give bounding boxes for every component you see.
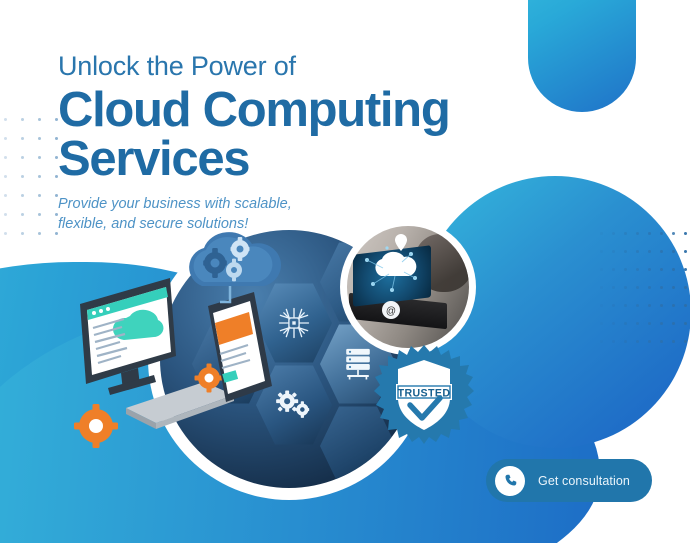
grid-dot — [648, 268, 651, 271]
grid-dot — [612, 286, 615, 289]
grid-dot — [660, 322, 663, 325]
grid-dot — [600, 232, 603, 235]
grid-dot — [600, 340, 603, 343]
grid-dot — [38, 194, 41, 197]
grid-dot — [672, 250, 675, 253]
cloud-computing-banner: Unlock the Power of Cloud Computing Serv… — [0, 0, 690, 543]
grid-dot — [624, 340, 627, 343]
grid-dot — [600, 268, 603, 271]
grid-dot — [672, 286, 675, 289]
phone-icon — [495, 466, 525, 496]
title-line-1: Cloud Computing — [58, 83, 449, 137]
grid-dot — [672, 268, 675, 271]
grid-dot — [660, 268, 663, 271]
grid-dot — [4, 194, 7, 197]
grid-dot — [4, 175, 7, 178]
grid-dot — [636, 286, 639, 289]
grid-dot — [648, 286, 651, 289]
grid-dot — [648, 304, 651, 307]
grid-dot — [21, 213, 24, 216]
grid-dot — [636, 232, 639, 235]
grid-dot — [636, 250, 639, 253]
svg-text:@: @ — [386, 306, 396, 317]
grid-dot — [612, 232, 615, 235]
get-consultation-button[interactable]: Get consultation — [486, 459, 652, 502]
grid-dot — [600, 250, 603, 253]
grid-dot — [38, 232, 41, 235]
grid-dot — [21, 118, 24, 121]
grid-dot — [648, 232, 651, 235]
grid-dot — [21, 137, 24, 140]
subtitle-text: Provide your business with scalable, fle… — [58, 195, 316, 234]
dot-grid-right — [600, 232, 690, 362]
grid-dot — [672, 304, 675, 307]
grid-dot — [660, 304, 663, 307]
grid-dot — [612, 304, 615, 307]
keyboard — [126, 382, 234, 429]
grid-dot — [636, 322, 639, 325]
grid-dot — [636, 268, 639, 271]
grid-dot — [624, 268, 627, 271]
grid-dot — [684, 286, 687, 289]
grid-dot — [600, 286, 603, 289]
grid-dot — [38, 137, 41, 140]
grid-dot — [684, 322, 687, 325]
grid-dot — [648, 340, 651, 343]
grid-dot — [624, 322, 627, 325]
server-stack-icon — [342, 347, 374, 381]
headline-block: Unlock the Power of Cloud Computing Serv… — [58, 52, 528, 234]
grid-dot — [660, 340, 663, 343]
get-consultation-label: Get consultation — [538, 474, 630, 488]
grid-dot — [600, 322, 603, 325]
grid-dot — [684, 340, 687, 343]
grid-dot — [38, 175, 41, 178]
cloud-network-icon: @ — [365, 234, 417, 319]
grid-dot — [21, 156, 24, 159]
pill-top-right-decoration — [528, 0, 636, 112]
grid-dot — [4, 137, 7, 140]
desktop-monitor — [80, 278, 176, 395]
grid-dot — [4, 213, 7, 216]
grid-dot — [4, 156, 7, 159]
cloud-with-gears — [178, 224, 288, 310]
grid-dot — [21, 232, 24, 235]
grid-dot — [624, 232, 627, 235]
grid-dot — [660, 232, 663, 235]
grid-dot — [612, 268, 615, 271]
title-line-2: Services — [58, 132, 249, 186]
grid-dot — [4, 118, 7, 121]
grid-dot — [38, 156, 41, 159]
cloud-with-gears-icon — [189, 232, 281, 302]
grid-dot — [648, 250, 651, 253]
grid-dot — [672, 322, 675, 325]
grid-dot — [38, 118, 41, 121]
grid-dot — [600, 304, 603, 307]
grid-dot — [684, 250, 687, 253]
grid-dot — [672, 232, 675, 235]
cloud-network-overlay: @ — [347, 226, 469, 348]
trusted-badge: TRUSTED — [374, 344, 474, 444]
gear-orange — [74, 404, 118, 448]
grid-dot — [38, 213, 41, 216]
grid-dot — [660, 250, 663, 253]
grid-dot — [684, 304, 687, 307]
laptop-photo-circle: @ — [340, 219, 476, 355]
grid-dot — [21, 194, 24, 197]
map-pin-icon — [395, 234, 407, 251]
grid-dot — [648, 322, 651, 325]
eyebrow-text: Unlock the Power of — [58, 52, 528, 80]
grid-dot — [612, 250, 615, 253]
central-illustration: @ TRUSTED — [148, 218, 458, 528]
grid-dot — [612, 340, 615, 343]
grid-dot — [636, 304, 639, 307]
grid-dot — [624, 250, 627, 253]
grid-dot — [624, 286, 627, 289]
grid-dot — [636, 340, 639, 343]
grid-dot — [4, 232, 7, 235]
grid-dot — [612, 322, 615, 325]
grid-dot — [21, 175, 24, 178]
laptop-photo: @ — [347, 226, 469, 348]
grid-dot — [624, 304, 627, 307]
grid-dot — [684, 232, 687, 235]
page-title: Cloud Computing Services — [58, 86, 528, 183]
grid-dot — [660, 286, 663, 289]
grid-dot — [684, 268, 687, 271]
grid-dot — [672, 340, 675, 343]
